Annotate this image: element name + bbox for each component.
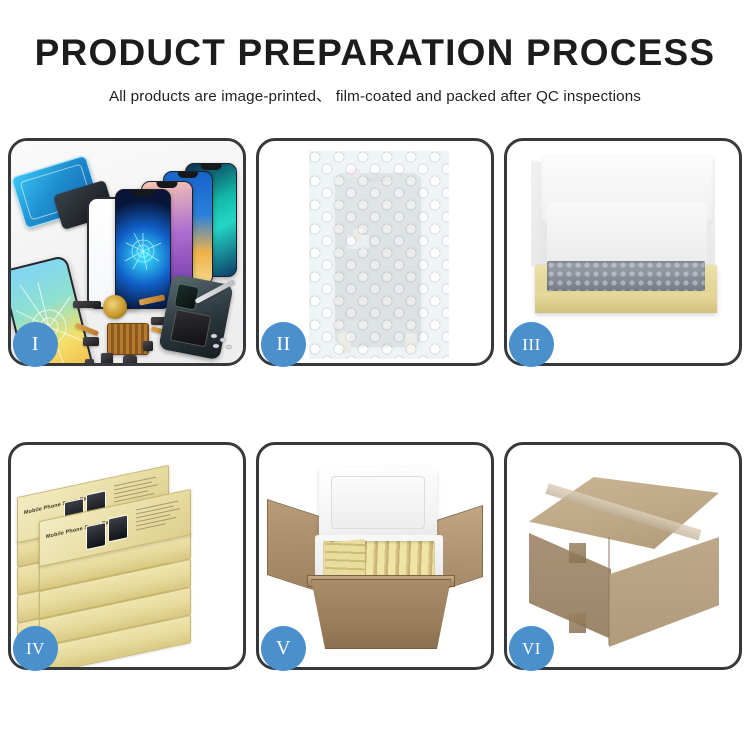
carton-flap-notch-icon — [569, 543, 586, 563]
box-spec-lines-icon — [136, 499, 184, 535]
step-badge-4: IV — [13, 626, 58, 671]
chip-part-icon — [123, 355, 137, 363]
bubble-wrap-bag — [309, 151, 449, 359]
process-step-panel-5: V — [256, 442, 494, 670]
page-subtitle: All products are image-printed、 film-coa… — [0, 84, 750, 106]
phone-cracked-blue-icon — [115, 189, 171, 309]
bubble-texture-icon — [309, 151, 449, 359]
process-step-panel-6: VI — [504, 442, 742, 670]
box-product-photo-icon — [108, 514, 128, 542]
carton-front-icon — [311, 579, 451, 649]
chip-part-icon — [83, 337, 99, 346]
process-step-panel-2: II — [256, 138, 494, 366]
chip-part-icon — [143, 341, 153, 351]
step-badge-6: VI — [509, 626, 554, 671]
cracked-screen-icon — [123, 231, 163, 271]
carton-seam-icon — [608, 537, 610, 645]
process-step-panel-4: Mobile Phone Spare Parts — [8, 442, 246, 670]
phone-notch-icon — [178, 172, 198, 178]
foam-cooler-lid-icon — [319, 467, 437, 545]
process-step-grid: I II — [8, 138, 742, 670]
process-step-panel-1: I — [8, 138, 246, 366]
step-badge-2: II — [261, 322, 306, 367]
phone-notch-icon — [157, 182, 178, 188]
step-badge-3: III — [509, 322, 554, 367]
carton-right-face-icon — [609, 537, 719, 647]
yellow-box-front-icon — [535, 293, 717, 313]
chip-part-icon — [73, 301, 101, 308]
speaker-coil-part-icon — [103, 295, 127, 319]
chip-part-icon — [101, 353, 113, 363]
process-step-panel-3: III — [504, 138, 742, 366]
phone-notch-icon — [132, 190, 155, 196]
carton-flap-notch-icon — [569, 613, 586, 633]
screws-icon — [209, 331, 235, 351]
chip-part-icon — [85, 359, 94, 363]
step-badge-1: I — [13, 322, 58, 367]
page-title: PRODUCT PREPARATION PROCESS — [0, 34, 750, 71]
phone-notch-icon — [201, 164, 222, 170]
box-product-photo-icon — [86, 522, 106, 550]
step-badge-5: V — [261, 626, 306, 671]
page-header: PRODUCT PREPARATION PROCESS All products… — [0, 0, 750, 106]
bubble-wrap-contents-icon — [547, 261, 705, 291]
